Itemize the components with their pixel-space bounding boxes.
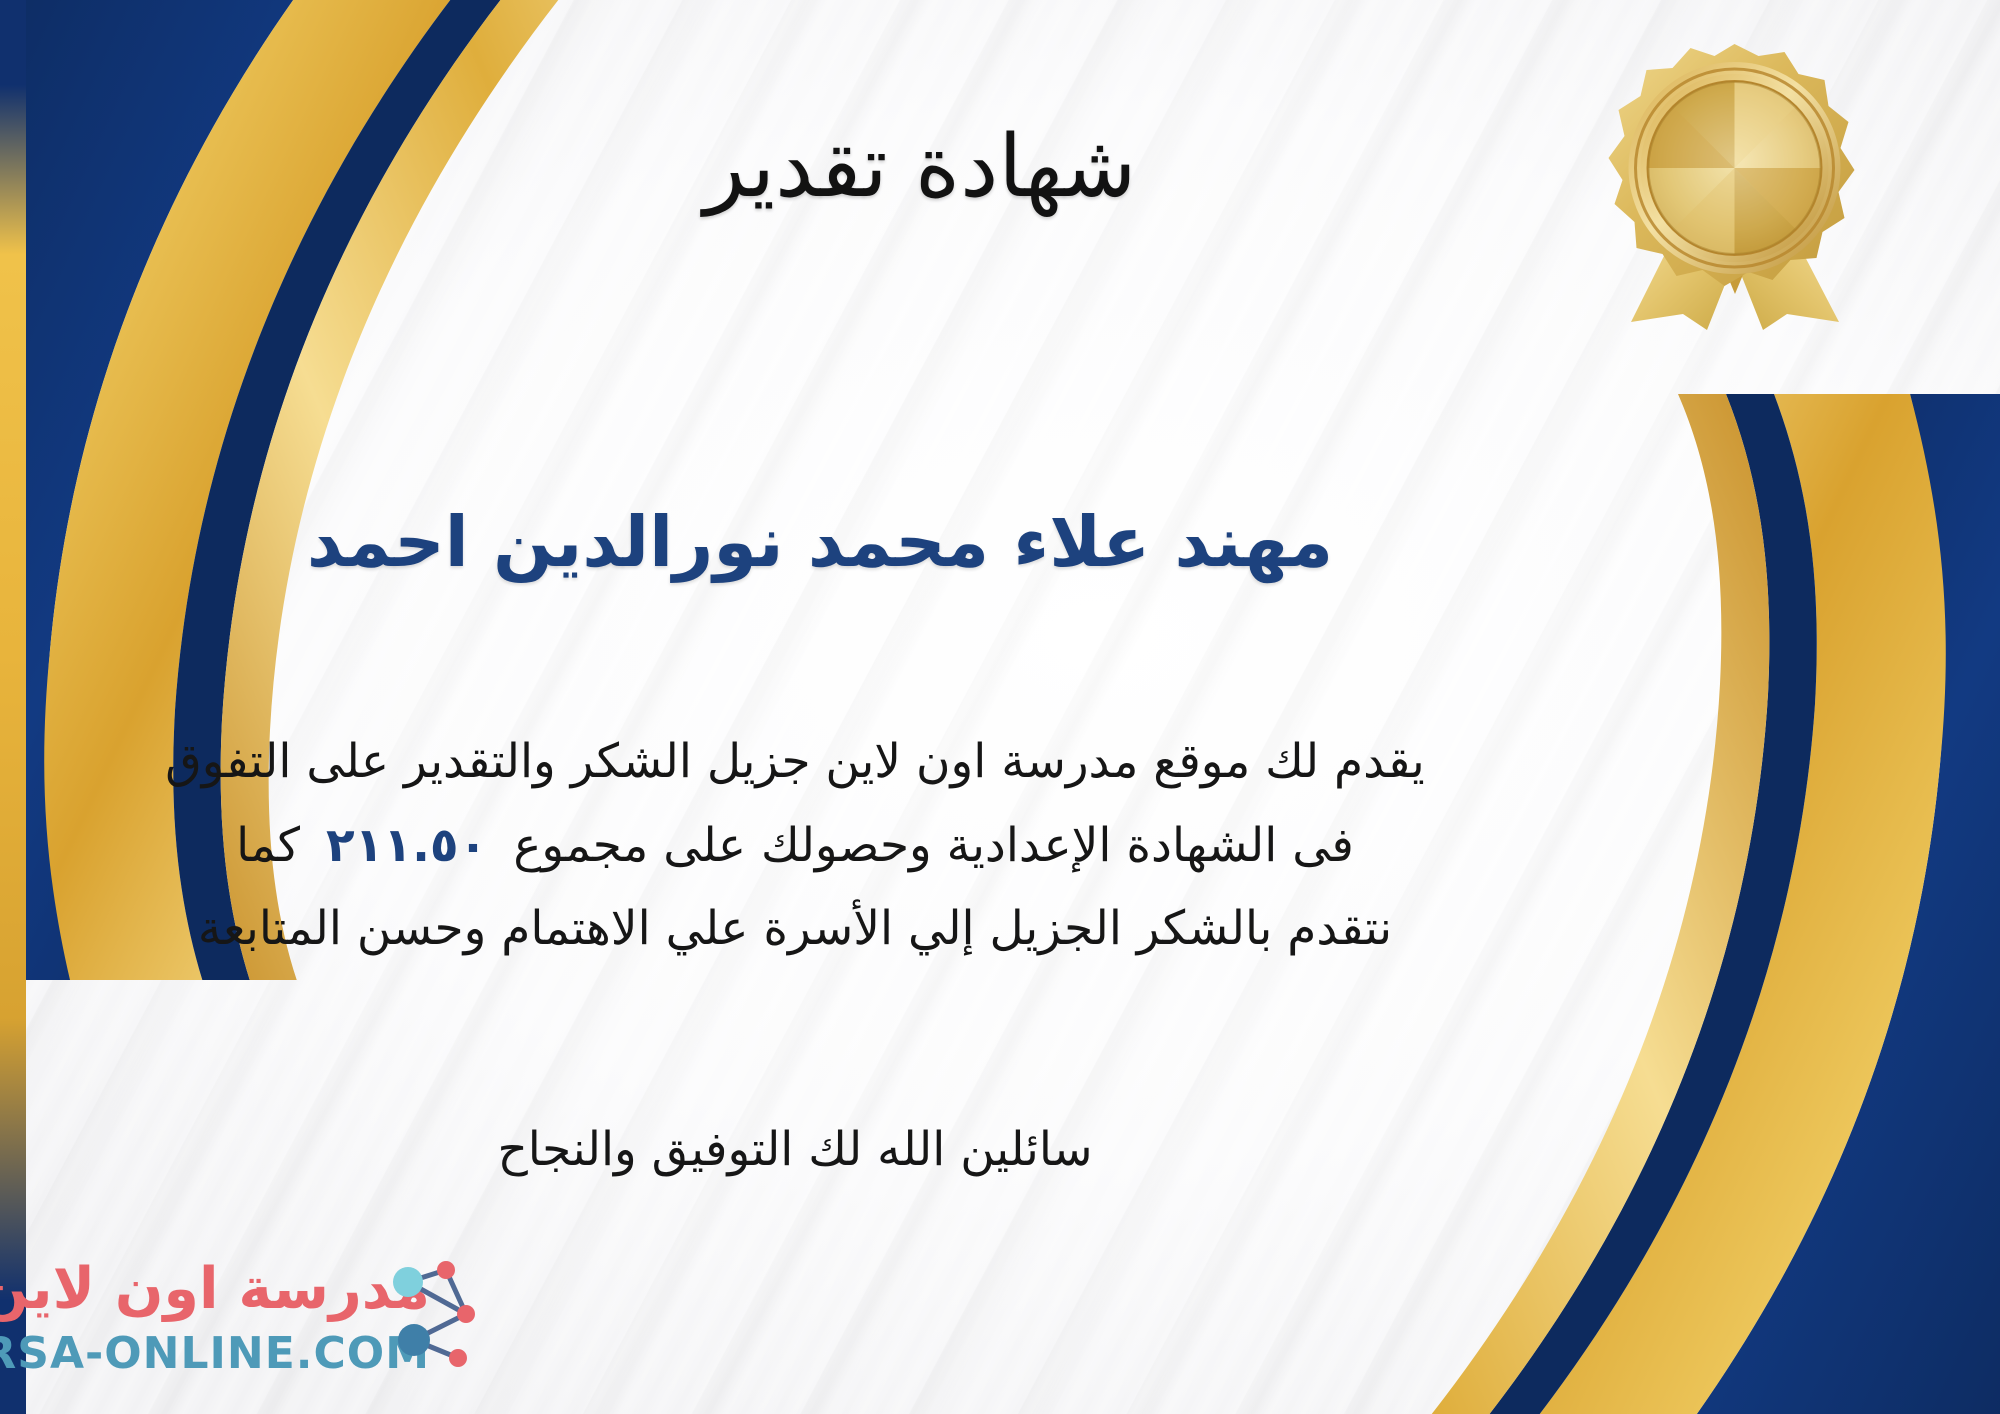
network-nodes-icon [388, 1254, 492, 1374]
closing-wish: سائلين الله لك التوفيق والنجاح [40, 1112, 1550, 1187]
recipient-name: مهند علاء محمد نورالدين احمد [110, 500, 1530, 584]
grade-total-value: ٢١١.٥٠ [300, 818, 513, 873]
brand-logo[interactable]: مدرسة اون لاين MADRSA-ONLINE.COM [22, 1250, 492, 1400]
body-line-1: يقدم لك موقع مدرسة اون لاين جزيل الشكر و… [40, 720, 1550, 804]
certificate-page: شهادة تقدير مهند علاء محمد نورالدين احمد… [0, 0, 2000, 1414]
body-line-2: فى الشهادة الإعدادية وحصولك على مجموع٢١١… [40, 804, 1550, 888]
brand-domain: MADRSA-ONLINE.COM [0, 1328, 430, 1379]
body-line-2-prefix: فى الشهادة الإعدادية وحصولك على مجموع [513, 818, 1354, 873]
body-line-2-suffix: كما [236, 818, 300, 873]
certificate-title: شهادة تقدير [0, 118, 1840, 217]
brand-arabic-name: مدرسة اون لاين [0, 1256, 430, 1322]
body-line-3: نتقدم بالشكر الجزيل إلي الأسرة علي الاهت… [40, 887, 1550, 971]
certificate-body: يقدم لك موقع مدرسة اون لاين جزيل الشكر و… [40, 720, 1550, 971]
